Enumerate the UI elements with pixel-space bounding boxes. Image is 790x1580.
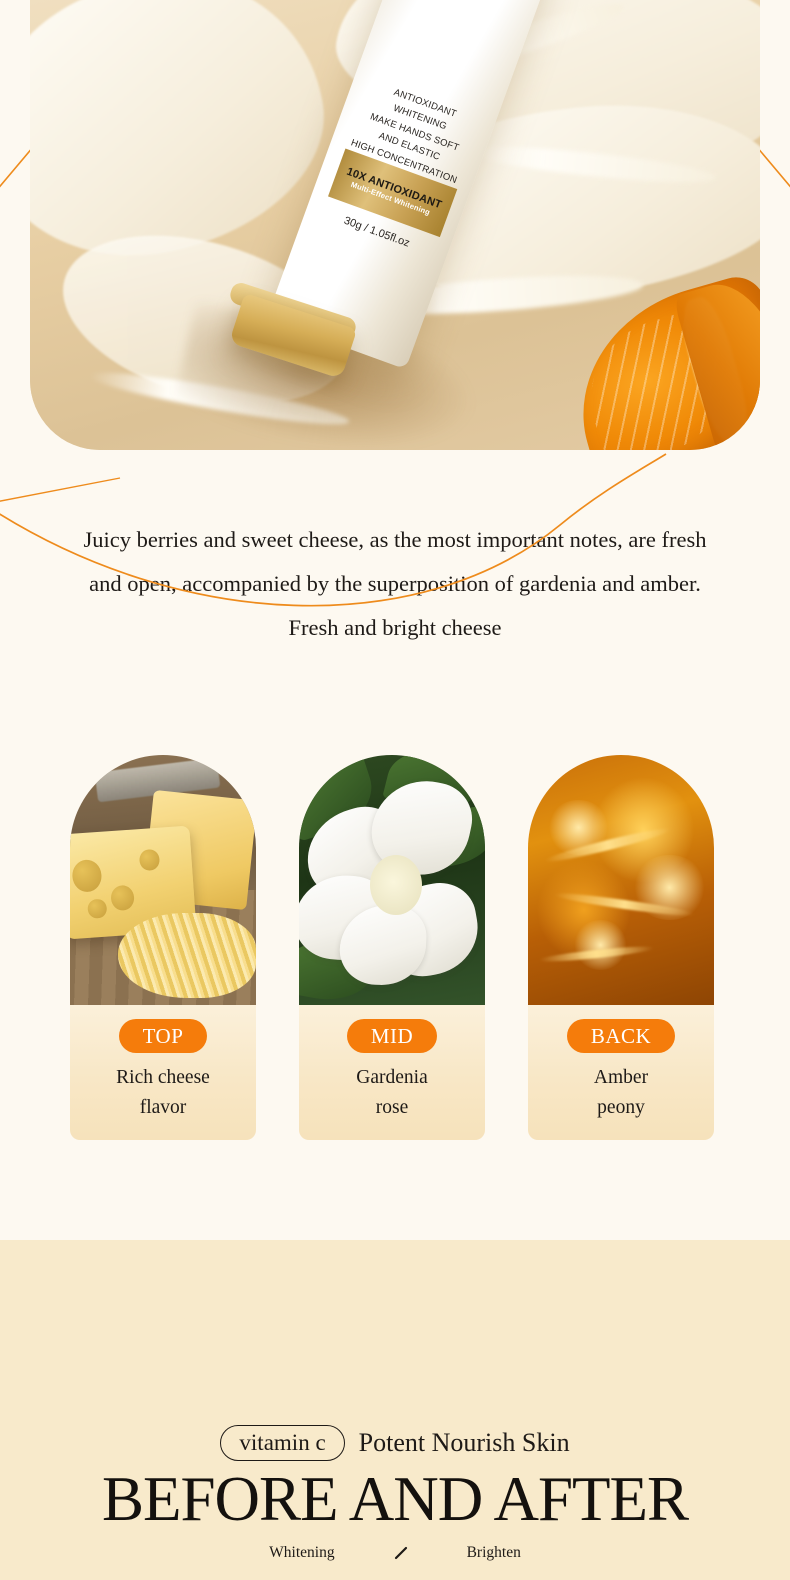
- product-detail-page: ANTIOXIDANT WHITENING MAKE HANDS SOFT AN…: [0, 0, 790, 1580]
- note-line-2: flavor: [116, 1093, 210, 1122]
- cta-headline: BEFORE AND AFTER: [0, 1467, 790, 1531]
- vitamin-c-pill: vitamin c: [220, 1425, 344, 1461]
- amber-resin-photo: [528, 755, 714, 1005]
- note-card-text: Amber peony: [594, 1063, 648, 1122]
- note-line-2: rose: [356, 1093, 427, 1122]
- before-after-cta: vitamin c Potent Nourish Skin BEFORE AND…: [0, 1425, 790, 1562]
- note-badge: TOP: [119, 1019, 208, 1053]
- note-card-text: Gardenia rose: [356, 1063, 427, 1122]
- fragrance-description: Juicy berries and sweet cheese, as the m…: [78, 518, 712, 650]
- fragrance-notes-cards: TOP Rich cheese flavor: [0, 755, 790, 1140]
- note-line-2: peony: [594, 1093, 648, 1122]
- note-card-top[interactable]: TOP Rich cheese flavor: [70, 755, 256, 1140]
- cta-subtitle-row: vitamin c Potent Nourish Skin: [0, 1425, 790, 1461]
- gardenia-flower-photo: [299, 755, 485, 1005]
- note-badge: MID: [347, 1019, 437, 1053]
- note-badge: BACK: [567, 1019, 675, 1053]
- note-card-mid[interactable]: MID Gardenia rose: [299, 755, 485, 1140]
- wave-divider: [0, 1228, 790, 1348]
- note-line-1: Amber: [594, 1063, 648, 1092]
- tag-whitening: Whitening: [269, 1544, 334, 1562]
- note-line-1: Rich cheese: [116, 1063, 210, 1092]
- hero-product-image: ANTIOXIDANT WHITENING MAKE HANDS SOFT AN…: [30, 0, 760, 450]
- note-card-body: BACK Amber peony: [528, 1005, 714, 1140]
- cheese-photo: [70, 755, 256, 1005]
- note-card-body: TOP Rich cheese flavor: [70, 1005, 256, 1140]
- slash-icon: [393, 1545, 409, 1561]
- before-after-tags: Whitening Brighten: [0, 1544, 790, 1562]
- note-card-body: MID Gardenia rose: [299, 1005, 485, 1140]
- note-card-text: Rich cheese flavor: [116, 1063, 210, 1122]
- tag-brighten: Brighten: [467, 1544, 521, 1562]
- cta-subtitle: Potent Nourish Skin: [359, 1428, 570, 1458]
- note-line-1: Gardenia: [356, 1063, 427, 1092]
- note-card-back[interactable]: BACK Amber peony: [528, 755, 714, 1140]
